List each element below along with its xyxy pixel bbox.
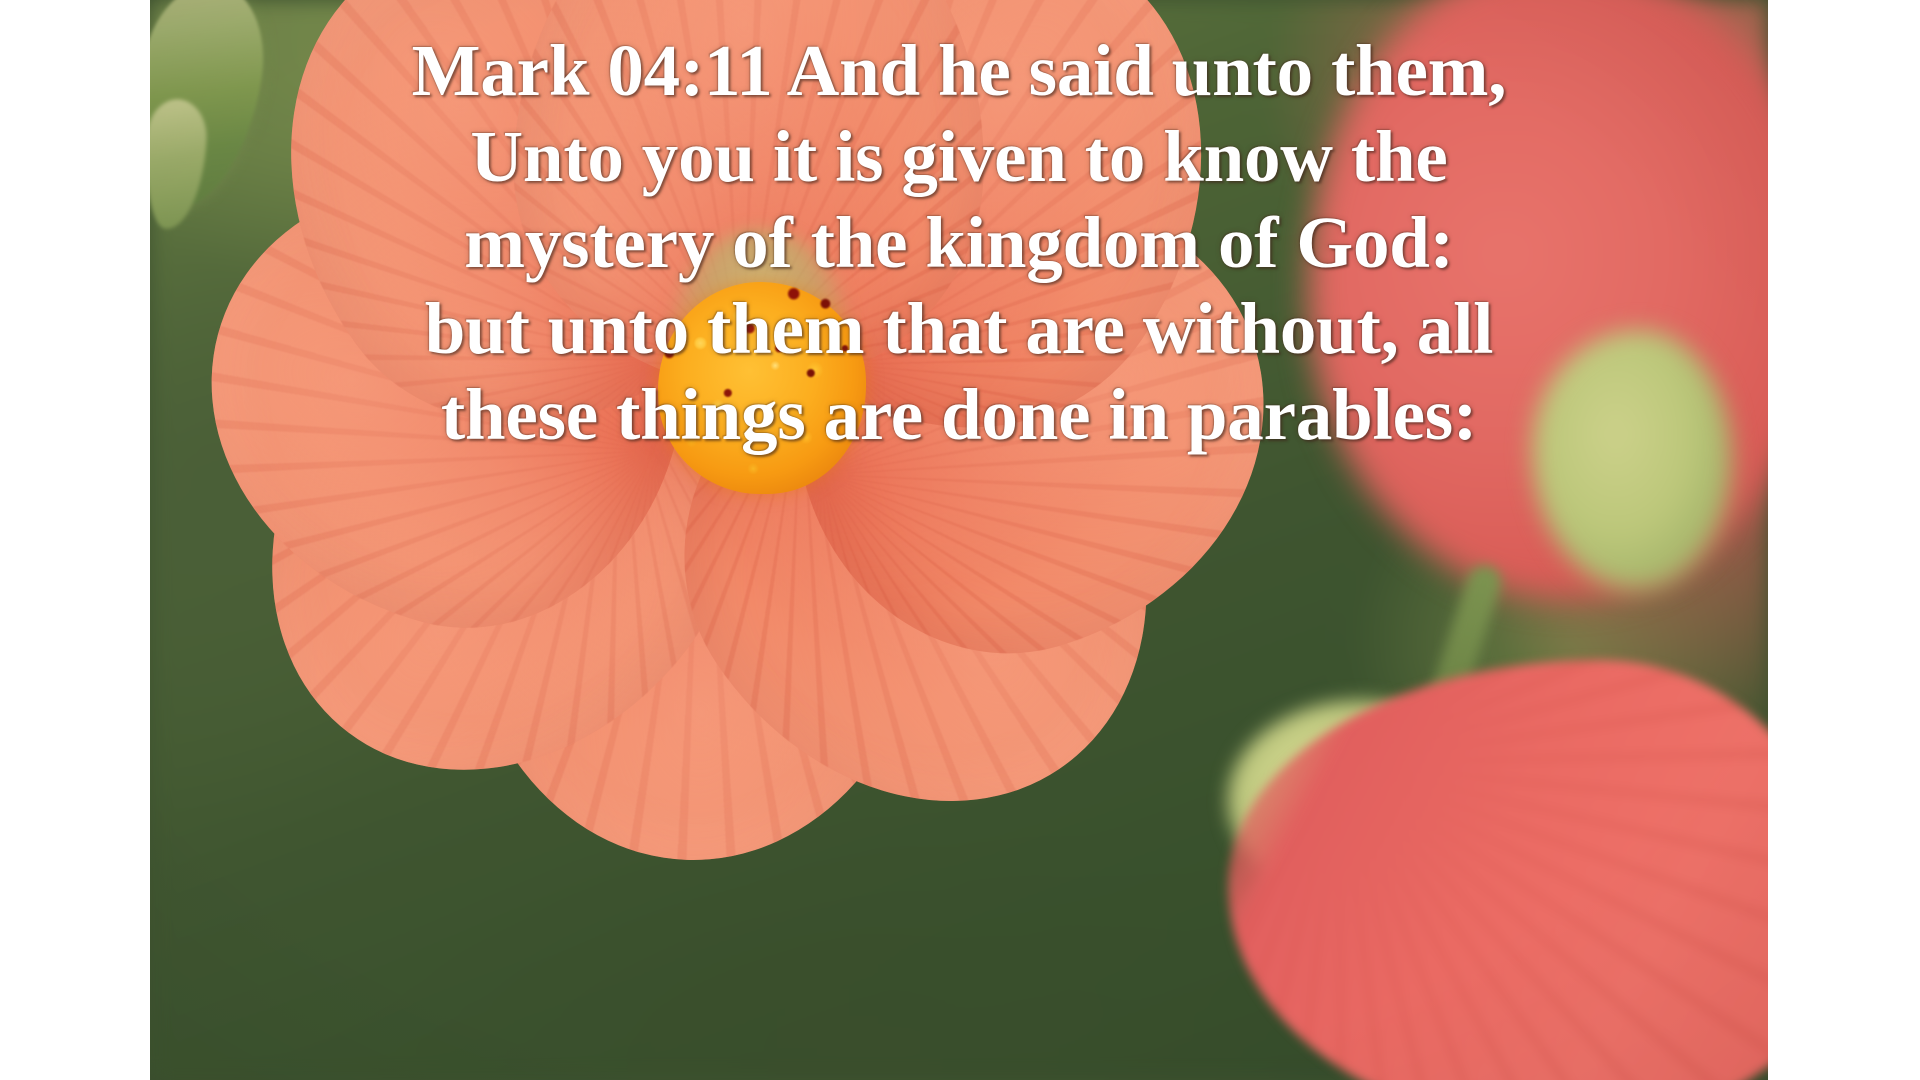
slide-canvas: Mark 04:11 And he said unto them, Unto y… bbox=[0, 0, 1920, 1080]
verse-line-4: but unto them that are without, all bbox=[150, 286, 1768, 372]
verse-line-2: Unto you it is given to know the bbox=[150, 114, 1768, 200]
verse-line-1: Mark 04:11 And he said unto them, bbox=[150, 28, 1768, 114]
verse-overlay: Mark 04:11 And he said unto them, Unto y… bbox=[150, 28, 1768, 458]
verse-line-3: mystery of the kingdom of God: bbox=[150, 200, 1768, 286]
verse-line-5: these things are done in parables: bbox=[150, 372, 1768, 458]
